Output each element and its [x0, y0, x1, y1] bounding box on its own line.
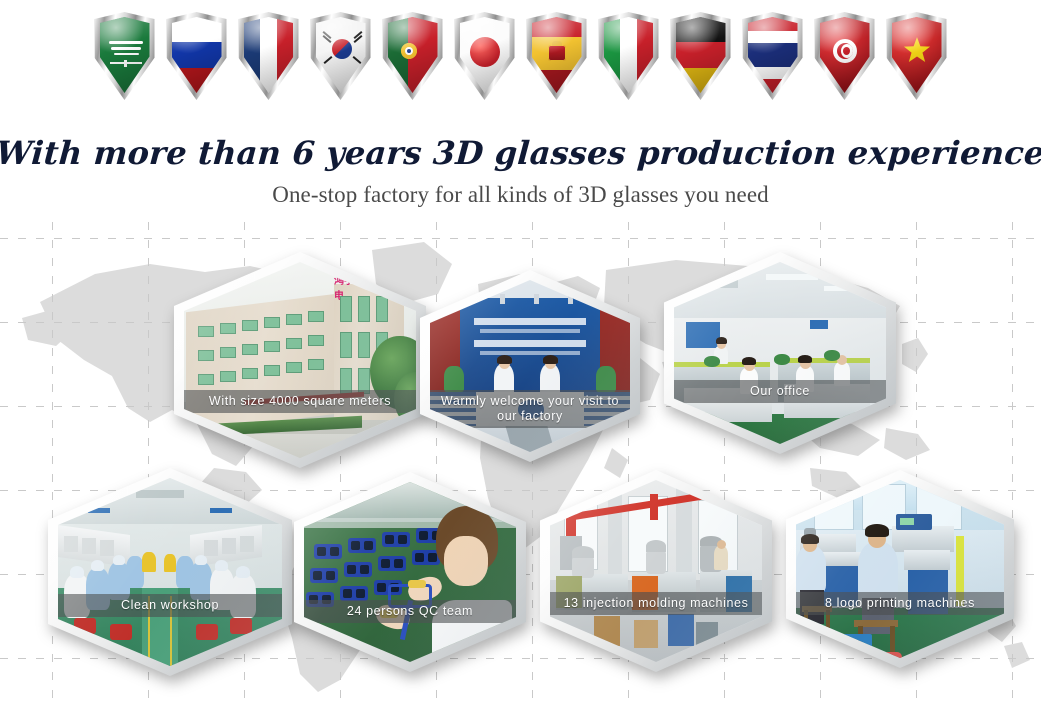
- flag-shield-vietnam[interactable]: [887, 12, 947, 100]
- grid-line-horizontal: [0, 238, 1041, 239]
- hex-tile-reception[interactable]: Warmly welcome your visit to our factory: [420, 270, 640, 462]
- flag-shield-france[interactable]: [239, 12, 299, 100]
- page-subtitle: One-stop factory for all kinds of 3D gla…: [0, 182, 1041, 208]
- portugal-flag-icon: [388, 17, 438, 93]
- hex-tile-injection-molding[interactable]: 13 injection molding machines: [540, 470, 772, 672]
- country-flag-shield-bar: [0, 0, 1041, 112]
- flag-shield-south-korea[interactable]: [311, 12, 371, 100]
- tunisia-flag-icon: [820, 17, 870, 93]
- russia-flag-icon: [172, 17, 222, 93]
- hex-tile-factory-building[interactable]: 鸿宇光电: [174, 252, 426, 468]
- germany-flag-icon: [676, 17, 726, 93]
- hex-tile-qc-team[interactable]: 24 persons QC team: [294, 472, 526, 672]
- hex-caption: 24 persons QC team: [304, 600, 516, 623]
- thailand-flag-icon: [748, 17, 798, 93]
- hex-caption: 8 logo printing machines: [796, 592, 1004, 615]
- headline-block: With more than 6 years 3D glasses produc…: [0, 126, 1041, 180]
- hex-caption: Clean workshop: [58, 594, 282, 617]
- vietnam-star-icon: [903, 36, 931, 64]
- france-flag-icon: [244, 17, 294, 93]
- spain-flag-icon: [532, 17, 582, 93]
- hex-caption: 13 injection molding machines: [550, 592, 762, 615]
- flag-shield-tunisia[interactable]: [815, 12, 875, 100]
- hex-tile-logo-printing[interactable]: 8 logo printing machines: [786, 470, 1014, 668]
- promo-banner: With more than 6 years 3D glasses produc…: [0, 0, 1041, 702]
- flag-shield-russia[interactable]: [167, 12, 227, 100]
- italy-flag-icon: [604, 17, 654, 93]
- flag-shield-saudi-arabia[interactable]: [95, 12, 155, 100]
- flag-shield-spain[interactable]: [527, 12, 587, 100]
- flag-shield-portugal[interactable]: [383, 12, 443, 100]
- south-korea-flag-icon: [316, 17, 366, 93]
- hex-tile-office[interactable]: Our office: [664, 252, 896, 454]
- flag-shield-japan[interactable]: [455, 12, 515, 100]
- hex-caption: With size 4000 square meters: [184, 390, 416, 413]
- japan-flag-icon: [460, 17, 510, 93]
- saudi-arabia-flag-icon: [100, 17, 150, 93]
- flag-shield-germany[interactable]: [671, 12, 731, 100]
- hex-caption: Our office: [674, 380, 886, 403]
- flag-shield-italy[interactable]: [599, 12, 659, 100]
- vietnam-flag-icon: [892, 17, 942, 93]
- hex-tile-clean-workshop[interactable]: Clean workshop: [48, 468, 292, 676]
- page-title: With more than 6 years 3D glasses produc…: [0, 134, 1041, 172]
- flag-shield-thailand[interactable]: [743, 12, 803, 100]
